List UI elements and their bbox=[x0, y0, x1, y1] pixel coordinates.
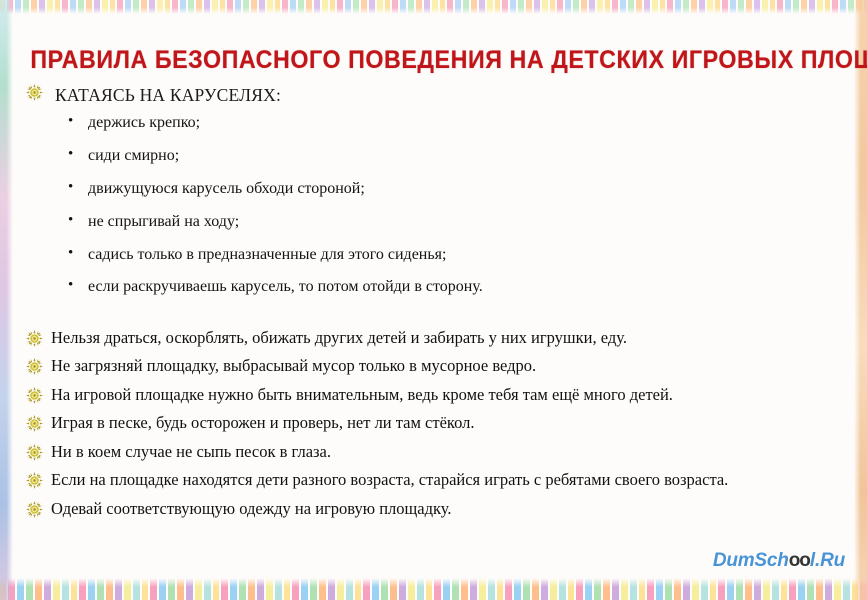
general-rules-list: Нельзя драться, оскорблять, обижать друг… bbox=[26, 328, 838, 527]
list-item: Не загрязняй площадку, выбрасывай мусор … bbox=[26, 356, 838, 377]
list-item-text: Если на площадке находятся дети разного … bbox=[51, 470, 728, 489]
sunburst-icon bbox=[26, 415, 43, 432]
list-item: не спрыгивай на ходу; bbox=[64, 213, 824, 231]
site-watermark: DumSchool.Ru bbox=[713, 550, 845, 572]
list-item: сиди смирно; bbox=[64, 147, 824, 165]
watermark-part2: l.Ru bbox=[810, 550, 845, 571]
sunburst-icon bbox=[26, 444, 43, 461]
list-item: держись крепко; bbox=[64, 114, 824, 132]
list-item-text: Нельзя драться, оскорблять, обижать друг… bbox=[51, 328, 627, 347]
decorative-border-bottom bbox=[0, 578, 867, 600]
list-item: садись только в предназначенные для этог… bbox=[64, 246, 824, 264]
sunburst-icon bbox=[26, 358, 43, 375]
list-item: Одевай соответствующую одежду на игровую… bbox=[26, 499, 838, 520]
list-item: Нельзя драться, оскорблять, обижать друг… bbox=[26, 328, 838, 349]
section-heading-label: КАТАЯСЬ НА КАРУСЕЛЯХ: bbox=[55, 84, 281, 106]
list-item: Играя в песке, будь осторожен и проверь,… bbox=[26, 413, 838, 434]
list-item: если раскручиваешь карусель, то потом от… bbox=[64, 278, 824, 296]
watermark-part1: DumSch bbox=[713, 550, 789, 571]
sunburst-icon bbox=[26, 330, 43, 347]
list-item: На игровой площадке нужно быть вниматель… bbox=[26, 385, 838, 406]
list-item-text: Играя в песке, будь осторожен и проверь,… bbox=[51, 413, 475, 432]
decorative-border-left bbox=[0, 0, 13, 600]
list-item: движущуюся карусель обходи стороной; bbox=[64, 180, 824, 198]
carousel-rules-list: держись крепко; сиди смирно; движущуюся … bbox=[64, 114, 824, 311]
sunburst-icon bbox=[26, 84, 43, 101]
decorative-border-top bbox=[0, 0, 867, 14]
list-item-text: Не загрязняй площадку, выбрасывай мусор … bbox=[51, 356, 536, 375]
sunburst-icon bbox=[26, 387, 43, 404]
list-item-text: Одевай соответствующую одежду на игровую… bbox=[51, 499, 451, 518]
page-title: ПРАВИЛА БЕЗОПАСНОГО ПОВЕДЕНИЯ НА ДЕТСКИХ… bbox=[30, 48, 836, 73]
list-item-text: Ни в коем случае не сыпь песок в глаза. bbox=[51, 442, 331, 461]
sunburst-icon bbox=[26, 472, 43, 489]
sunburst-icon bbox=[26, 501, 43, 518]
watermark-glasses-icon: oo bbox=[789, 550, 810, 571]
section-heading-carousels: КАТАЯСЬ НА КАРУСЕЛЯХ: bbox=[26, 84, 281, 106]
decorative-border-right bbox=[854, 0, 867, 600]
list-item-text: На игровой площадке нужно быть вниматель… bbox=[51, 385, 673, 404]
list-item: Ни в коем случае не сыпь песок в глаза. bbox=[26, 442, 838, 463]
poster-canvas: ПРАВИЛА БЕЗОПАСНОГО ПОВЕДЕНИЯ НА ДЕТСКИХ… bbox=[0, 0, 867, 600]
list-item: Если на площадке находятся дети разного … bbox=[26, 470, 838, 491]
